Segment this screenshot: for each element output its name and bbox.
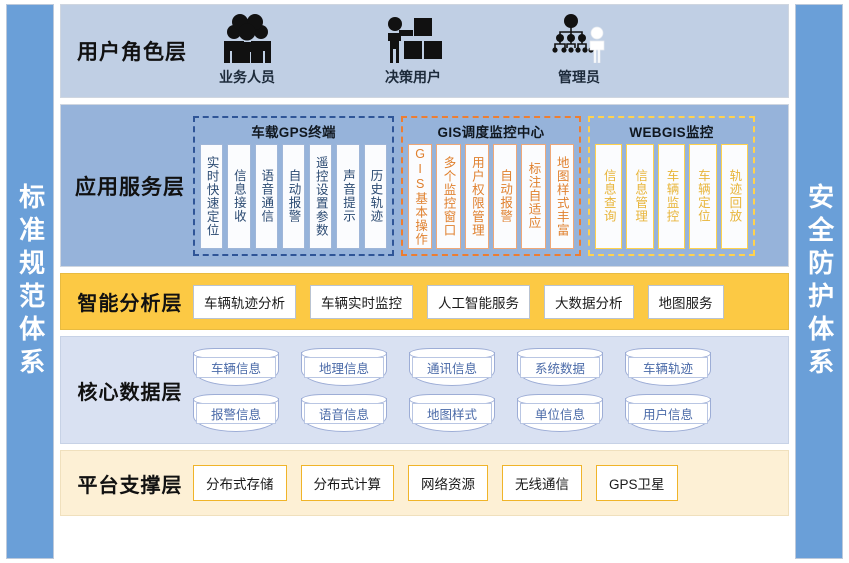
app-item-webgis-info-query[interactable]: 信息查询 (595, 144, 622, 249)
left-pillar-label: 标准规范体系 (16, 183, 43, 381)
platform-item-distributed-computing[interactable]: 分布式计算 (301, 465, 395, 501)
smart-item-map-service[interactable]: 地图服务 (648, 285, 724, 319)
layer-intelligent-analysis-title: 智能分析层 (61, 287, 193, 316)
layer-intelligent-analysis: 智能分析层 车辆轨迹分析 车辆实时监控 人工智能服务 大数据分析 地图服务 (60, 273, 789, 330)
role-label: 管理员 (525, 67, 633, 87)
intelligent-analysis-items: 车辆轨迹分析 车辆实时监控 人工智能服务 大数据分析 地图服务 (193, 285, 724, 319)
hierarchy-person-icon (525, 9, 633, 63)
layer-platform-support: 平台支撑层 分布式存储 分布式计算 网络资源 无线通信 GPS卫星 (60, 450, 789, 516)
core-data-grid: 车辆信息 地理信息 通讯信息 (193, 342, 711, 438)
data-store-system-data[interactable]: 系统数据 (517, 348, 603, 386)
data-store-user-info[interactable]: 用户信息 (625, 394, 711, 432)
layer-core-data-title: 核心数据层 (61, 376, 193, 405)
data-store-alarm-info[interactable]: 报警信息 (193, 394, 279, 432)
group-title: GIS调度监控中心 (408, 121, 574, 141)
core-data-row: 报警信息 语音信息 地图样式 (193, 394, 711, 432)
app-item-gis-rich-map-styles[interactable]: 地图样式丰富 (550, 144, 574, 249)
layer-application-services-title: 应用服务层 (61, 171, 193, 201)
app-item-gis-user-permissions[interactable]: 用户权限管理 (465, 144, 489, 249)
layer-user-roles: 用户角色层 (60, 4, 789, 98)
layer-stack: 用户角色层 (60, 4, 789, 559)
app-item-gps-history-track[interactable]: 历史轨迹 (364, 144, 387, 249)
platform-item-gps-satellite[interactable]: GPS卫星 (596, 465, 678, 501)
role-business-staff[interactable]: 业务人员 (193, 9, 301, 87)
application-groups: 车载GPS终端 实时快速定位 信息接收 语音通信 自动报警 遥控设置参数 声音提… (193, 110, 788, 262)
layer-core-data: 核心数据层 车辆信息 地理信息 (60, 336, 789, 444)
role-label: 业务人员 (193, 67, 301, 87)
platform-support-items: 分布式存储 分布式计算 网络资源 无线通信 GPS卫星 (193, 465, 678, 501)
person-blocks-icon (359, 9, 467, 63)
right-pillar-security: 安全防护体系 (795, 4, 843, 559)
layer-application-services: 应用服务层 车载GPS终端 实时快速定位 信息接收 语音通信 自动报警 遥控设置… (60, 104, 789, 267)
app-item-gps-info-receive[interactable]: 信息接收 (227, 144, 250, 249)
app-item-gis-auto-alarm[interactable]: 自动报警 (493, 144, 517, 249)
role-label: 决策用户 (359, 67, 467, 87)
group-title: WEBGIS监控 (595, 121, 748, 141)
app-item-webgis-vehicle-monitor[interactable]: 车辆监控 (658, 144, 685, 249)
data-store-voice-info[interactable]: 语音信息 (301, 394, 387, 432)
app-item-gis-label-adaptive[interactable]: 标注自适应 (521, 144, 545, 249)
data-store-vehicle-info[interactable]: 车辆信息 (193, 348, 279, 386)
data-store-comm-info[interactable]: 通讯信息 (409, 348, 495, 386)
role-administrator[interactable]: 管理员 (525, 9, 633, 87)
data-store-vehicle-track[interactable]: 车辆轨迹 (625, 348, 711, 386)
app-item-gis-basic-ops[interactable]: GIS基本操作 (408, 144, 432, 249)
right-pillar-label: 安全防护体系 (805, 183, 832, 381)
data-store-unit-info[interactable]: 单位信息 (517, 394, 603, 432)
left-pillar-standards: 标准规范体系 (6, 4, 54, 559)
app-item-gps-realtime-locate[interactable]: 实时快速定位 (200, 144, 223, 249)
group-webgis-monitoring: WEBGIS监控 信息查询 信息管理 车辆监控 车辆定位 轨迹回放 (588, 116, 755, 256)
platform-item-distributed-storage[interactable]: 分布式存储 (193, 465, 287, 501)
smart-item-big-data-analysis[interactable]: 大数据分析 (544, 285, 634, 319)
role-decision-user[interactable]: 决策用户 (359, 9, 467, 87)
user-roles-list: 业务人员 (193, 9, 633, 93)
people-group-icon (193, 9, 301, 63)
app-item-gps-remote-params[interactable]: 遥控设置参数 (309, 144, 332, 249)
app-item-gps-auto-alarm[interactable]: 自动报警 (282, 144, 305, 249)
group-title: 车载GPS终端 (200, 121, 387, 141)
layer-user-roles-title: 用户角色层 (61, 36, 193, 66)
app-item-webgis-vehicle-locate[interactable]: 车辆定位 (689, 144, 716, 249)
platform-item-wireless-comm[interactable]: 无线通信 (502, 465, 582, 501)
group-gis-dispatch-monitoring-center: GIS调度监控中心 GIS基本操作 多个监控窗口 用户权限管理 自动报警 标注自… (401, 116, 581, 256)
data-store-geo-info[interactable]: 地理信息 (301, 348, 387, 386)
app-item-webgis-track-playback[interactable]: 轨迹回放 (721, 144, 748, 249)
smart-item-vehicle-track-analysis[interactable]: 车辆轨迹分析 (193, 285, 296, 319)
smart-item-ai-service[interactable]: 人工智能服务 (427, 285, 530, 319)
platform-item-network-resources[interactable]: 网络资源 (408, 465, 488, 501)
app-item-gps-sound-prompt[interactable]: 声音提示 (336, 144, 359, 249)
core-data-row: 车辆信息 地理信息 通讯信息 (193, 348, 711, 386)
app-item-webgis-info-manage[interactable]: 信息管理 (626, 144, 653, 249)
app-item-gps-voice-comm[interactable]: 语音通信 (255, 144, 278, 249)
app-item-gis-multi-windows[interactable]: 多个监控窗口 (436, 144, 460, 249)
data-store-map-style[interactable]: 地图样式 (409, 394, 495, 432)
architecture-diagram: 标准规范体系 用户角色层 (0, 0, 849, 563)
smart-item-vehicle-realtime-monitor[interactable]: 车辆实时监控 (310, 285, 413, 319)
layer-platform-support-title: 平台支撑层 (61, 469, 193, 498)
group-vehicle-gps-terminal: 车载GPS终端 实时快速定位 信息接收 语音通信 自动报警 遥控设置参数 声音提… (193, 116, 394, 256)
